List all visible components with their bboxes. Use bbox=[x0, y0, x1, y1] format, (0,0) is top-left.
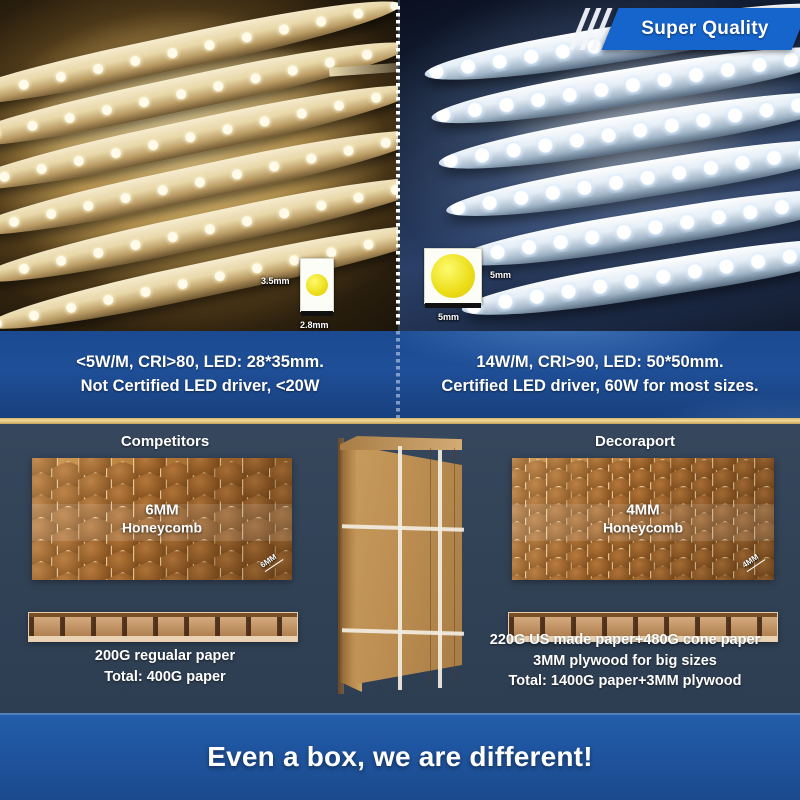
competitors-title: Competitors bbox=[0, 433, 330, 450]
competitors-honeycomb-image: 6MM Honeycomb 6MM bbox=[32, 458, 292, 580]
spec-comparison-banner: <5W/M, CRI>80, LED: 28*35mm. Not Certifi… bbox=[0, 331, 800, 418]
led-chip-2835-icon bbox=[300, 258, 334, 312]
carton-strap-vertical bbox=[438, 450, 442, 688]
chip-width-label: 5mm bbox=[438, 312, 459, 322]
carton-left-edge bbox=[338, 438, 344, 694]
footer-top-highlight bbox=[0, 713, 800, 715]
decoraport-caption: 220G US made paper+480G cone paper 3MM p… bbox=[450, 630, 800, 692]
decoraport-title: Decoraport bbox=[470, 433, 800, 450]
spec-right-column: 14W/M, CRI>90, LED: 50*50mm. Certified L… bbox=[400, 331, 800, 418]
decoraport-honeycomb-word: Honeycomb bbox=[603, 520, 683, 536]
chip-width-label: 2.8mm bbox=[300, 320, 329, 330]
carton-seam bbox=[430, 448, 431, 684]
spec-right-line2: Certified LED driver, 60W for most sizes… bbox=[441, 377, 758, 396]
spec-left-column: <5W/M, CRI>80, LED: 28*35mm. Not Certifi… bbox=[0, 331, 400, 418]
led-chip-5050-icon bbox=[424, 248, 482, 304]
decoraport-honeycomb-size: 4MM bbox=[512, 502, 774, 520]
edge-strip-bottom-liner bbox=[29, 636, 297, 641]
competitors-caption-line2: Total: 400G paper bbox=[0, 667, 330, 688]
carton-strap-vertical bbox=[398, 446, 402, 690]
competitors-caption-line1: 200G regualar paper bbox=[0, 646, 330, 667]
spec-left-line1: <5W/M, CRI>80, LED: 28*35mm. bbox=[76, 353, 324, 372]
photo-divider-dotted-line bbox=[396, 6, 400, 328]
led-chip-callout-left: 3.5mm 2.8mm bbox=[300, 258, 334, 312]
spec-banner-divider bbox=[396, 331, 400, 418]
carton-front-face bbox=[356, 446, 462, 684]
led-phosphor-dot-icon bbox=[431, 254, 475, 298]
spec-left-line2: Not Certified LED driver, <20W bbox=[81, 377, 320, 396]
footer-banner: Even a box, we are different! bbox=[0, 713, 800, 800]
footer-headline: Even a box, we are different! bbox=[207, 741, 592, 773]
spec-right-line1: 14W/M, CRI>90, LED: 50*50mm. bbox=[476, 353, 723, 372]
super-quality-label: Super Quality bbox=[610, 8, 800, 50]
competitors-honeycomb-label: 6MM Honeycomb bbox=[32, 502, 292, 537]
led-chip-callout-right: 5mm 5mm bbox=[424, 248, 482, 304]
infographic-page: Super Quality 3.5mm 2.8mm 5mm 5mm <5W/M,… bbox=[0, 0, 800, 800]
decoraport-caption-line1: 220G US made paper+480G cone paper bbox=[450, 630, 800, 651]
chip-height-label: 5mm bbox=[490, 270, 511, 280]
decoraport-honeycomb-image: 4MM Honeycomb 4MM bbox=[512, 458, 774, 580]
warm-led-strip-photo bbox=[0, 0, 398, 331]
packaging-comparison-panel: Competitors Decoraport 6MM Honeycomb 6MM bbox=[0, 424, 800, 713]
decoraport-caption-line2: 3MM plywood for big sizes bbox=[450, 651, 800, 672]
competitors-honeycomb-size: 6MM bbox=[32, 502, 292, 520]
competitors-edge-strip bbox=[28, 612, 298, 642]
competitors-caption: 200G regualar paper Total: 400G paper bbox=[0, 646, 330, 687]
competitors-honeycomb-word: Honeycomb bbox=[122, 520, 202, 536]
led-phosphor-dot-icon bbox=[306, 274, 328, 296]
decoraport-caption-line3: Total: 1400G paper+3MM plywood bbox=[450, 671, 800, 692]
product-photo-row: Super Quality 3.5mm 2.8mm 5mm 5mm bbox=[0, 0, 800, 331]
decoraport-honeycomb-label: 4MM Honeycomb bbox=[512, 502, 774, 537]
chip-height-label: 3.5mm bbox=[261, 276, 290, 286]
edge-strip-cells bbox=[29, 617, 297, 637]
